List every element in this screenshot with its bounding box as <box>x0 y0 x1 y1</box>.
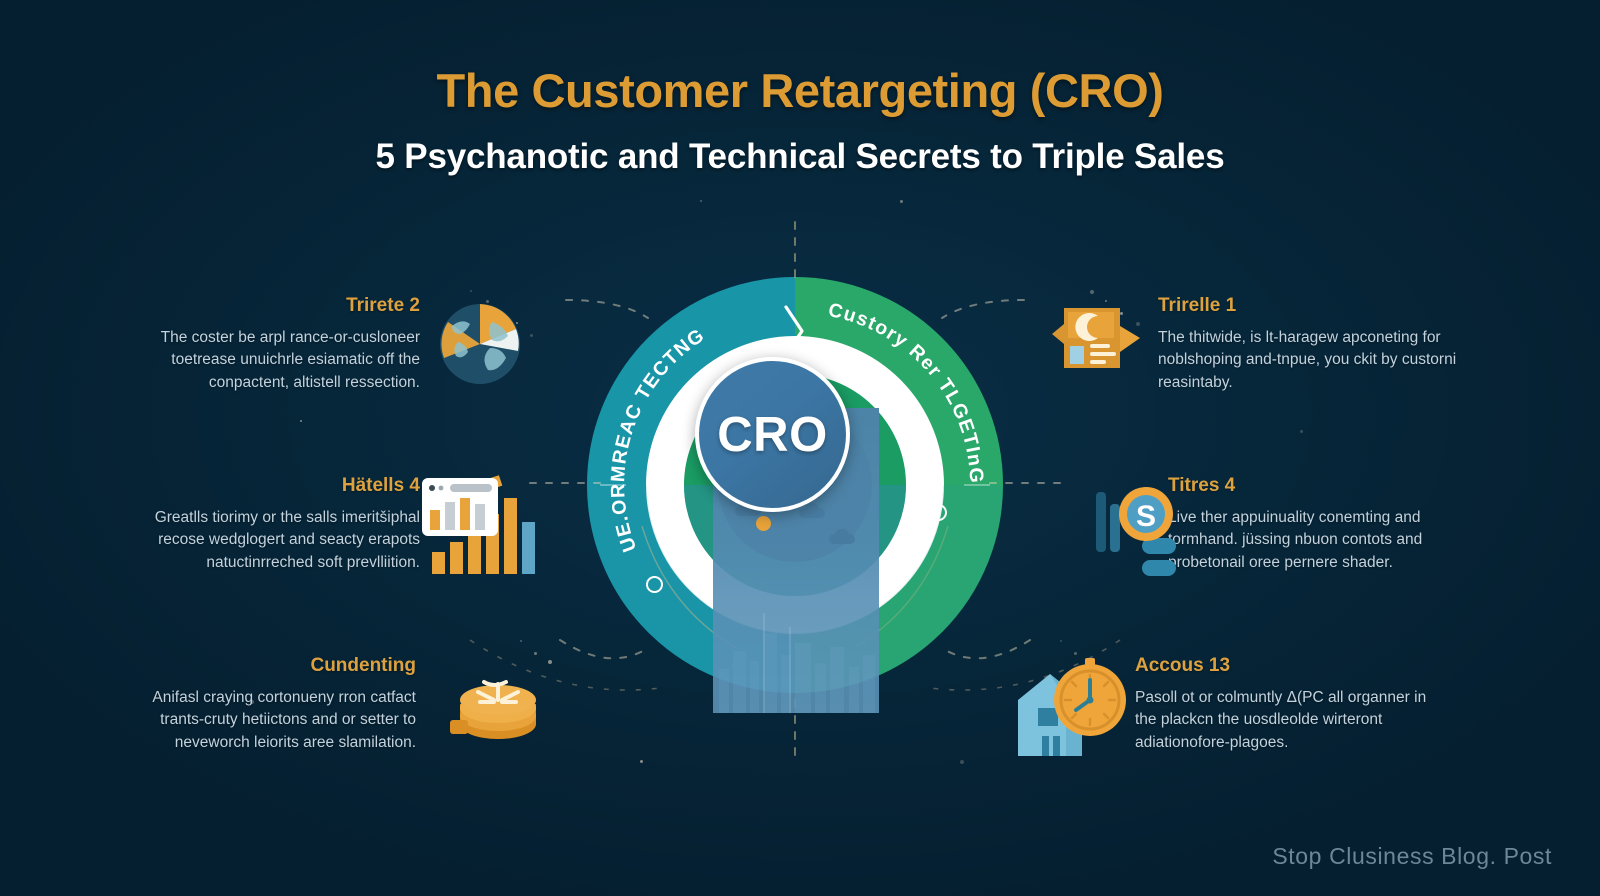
svg-text:S: S <box>1136 500 1156 533</box>
infographic-canvas: The Customer Retargeting (CRO) 5 Psychan… <box>0 0 1600 896</box>
sun-icon <box>756 516 771 531</box>
info-block-right-1: Trirelle 1 The thitwide, is lt-haragew a… <box>1158 296 1468 394</box>
info-block-body: The coster be arpl rance-or-cusloneer to… <box>110 327 420 394</box>
info-block-title: Accous 13 <box>1135 656 1445 677</box>
clock-house-icon <box>1006 648 1130 760</box>
info-block-right-3: Accous 13 Pasoll ot or colmuntly Δ(PC al… <box>1135 656 1445 754</box>
info-block-body: Live ther appuinuality conemting and tor… <box>1168 507 1478 574</box>
central-diagram: UE.ORMREAC TECTNG Custory Rer TLGETInG <box>586 276 1004 694</box>
info-block-right-2: Titres 4 Live ther appuinuality conemtin… <box>1168 476 1478 574</box>
info-block-title: Trirelle 1 <box>1158 296 1468 317</box>
info-block-body: The thitwide, is lt-haragew apconeting f… <box>1158 327 1468 394</box>
info-block-left-1: Trirete 2 The coster be arpl rance-or-cu… <box>110 296 420 394</box>
ring-node-dot-right[interactable] <box>930 504 947 521</box>
info-block-body: Pasoll ot or colmuntly Δ(PC all organner… <box>1135 687 1445 754</box>
info-block-title: Cundenting <box>106 656 416 677</box>
info-block-title: Titres 4 <box>1168 476 1478 497</box>
coin-stack-icon <box>450 658 546 750</box>
browser-window <box>422 478 498 536</box>
header: The Customer Retargeting (CRO) 5 Psychan… <box>0 66 1600 177</box>
clock-icon <box>1054 658 1126 736</box>
ring-node-dot-left[interactable] <box>646 576 663 593</box>
core-label: CRO <box>717 407 827 463</box>
dollar-coin-icon: S <box>1096 478 1196 578</box>
page-title: The Customer Retargeting (CRO) <box>0 66 1600 115</box>
cloud-icon <box>829 534 855 544</box>
globe-pie-icon <box>432 296 528 392</box>
cloud-icon <box>799 508 825 518</box>
bar-chart-window-icon <box>420 472 540 574</box>
footer-credit: Stop Clusiness Blog. Post <box>1272 843 1552 870</box>
info-block-body: Anifasl craying cortonueny rron catfact … <box>106 687 416 754</box>
info-block-left-2: Hätells 4 Greatlls tiorimy or the salls … <box>110 476 420 574</box>
info-block-left-3: Cundenting Anifasl craying cortonueny rr… <box>106 656 416 754</box>
info-block-title: Hätells 4 <box>110 476 420 497</box>
info-block-body: Greatlls tiorimy or the salls imeritšiph… <box>110 507 420 574</box>
core-circle: CRO <box>695 357 850 512</box>
page-subtitle: 5 Psychanotic and Technical Secrets to T… <box>0 137 1600 177</box>
tag-envelope-icon <box>1044 298 1140 390</box>
city-skyline <box>713 598 879 713</box>
info-block-title: Trirete 2 <box>110 296 420 317</box>
